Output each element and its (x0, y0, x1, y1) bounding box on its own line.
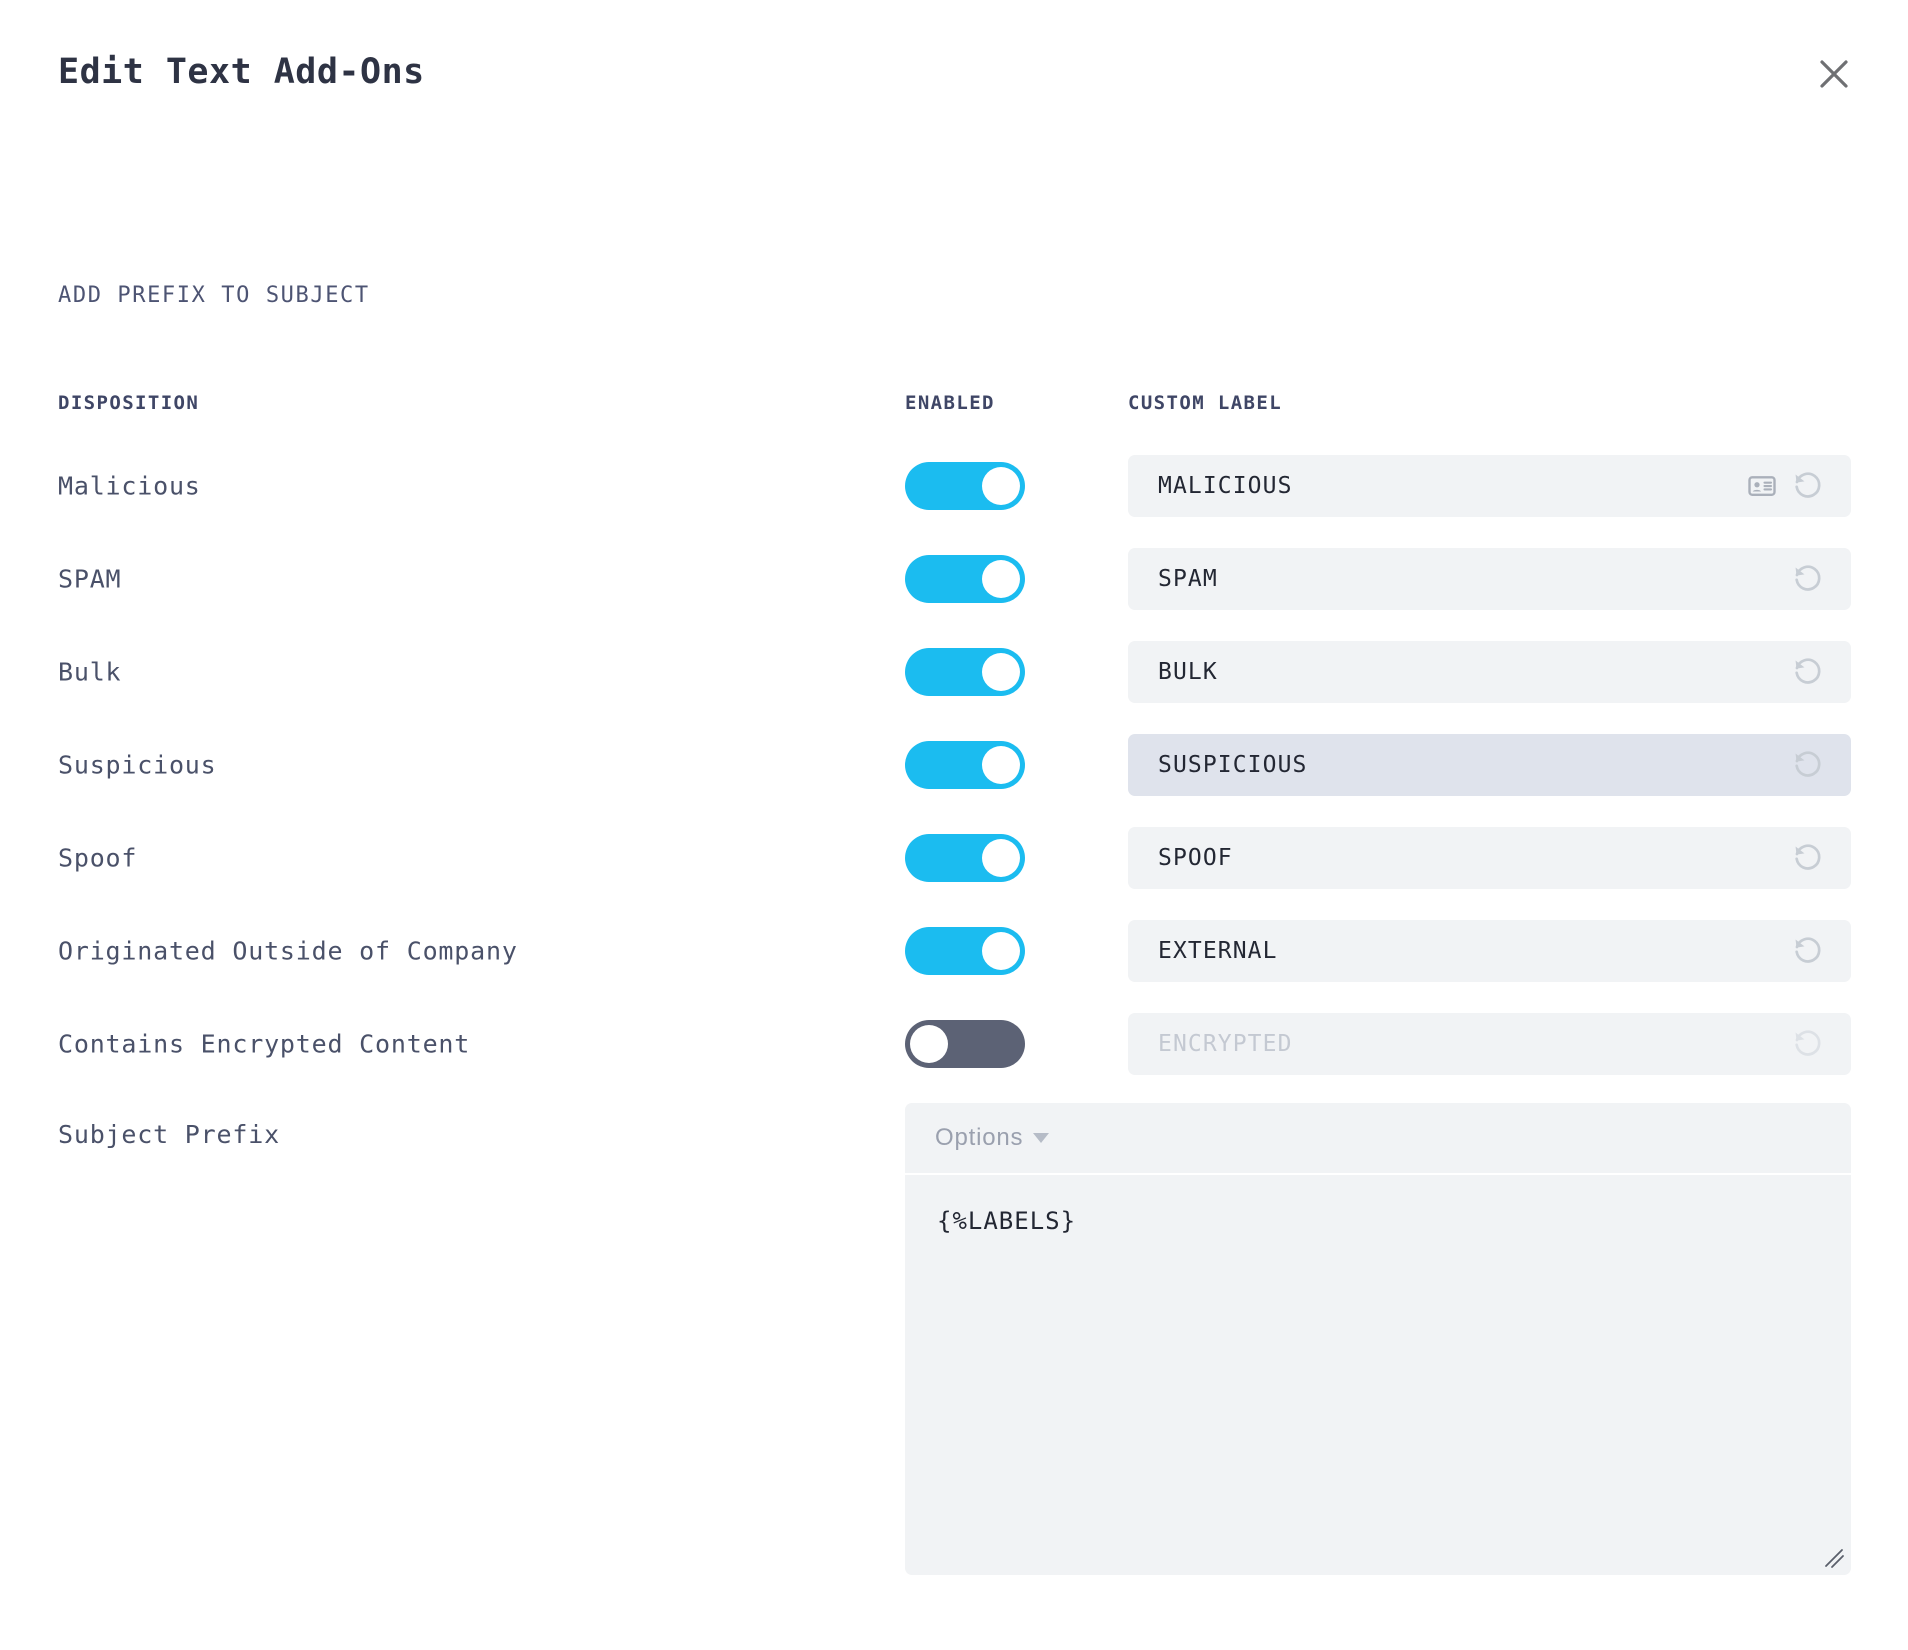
field-actions (1791, 562, 1825, 596)
table-row: Contains Encrypted ContentENCRYPTED (0, 1013, 1908, 1075)
custom-label-value: MALICIOUS (1158, 473, 1747, 499)
table-row: Originated Outside of CompanyEXTERNAL (0, 920, 1908, 982)
undo-reset-icon[interactable] (1791, 841, 1825, 875)
enabled-toggle[interactable] (905, 834, 1025, 882)
options-dropdown[interactable]: Options (935, 1124, 1049, 1152)
custom-label-input[interactable]: MALICIOUS (1128, 455, 1851, 517)
enabled-toggle[interactable] (905, 1020, 1025, 1068)
table-row: SPAMSPAM (0, 548, 1908, 610)
undo-reset-icon[interactable] (1791, 469, 1825, 503)
chevron-down-icon (1033, 1133, 1049, 1143)
custom-label-value: EXTERNAL (1158, 938, 1791, 964)
disposition-label: Suspicious (58, 751, 217, 780)
field-actions (1747, 469, 1825, 503)
undo-reset-icon[interactable] (1791, 748, 1825, 782)
column-header-disposition: DISPOSITION (58, 392, 199, 414)
contact-card-icon[interactable] (1747, 471, 1777, 501)
subject-prefix-label: Subject Prefix (58, 1120, 280, 1149)
toggle-knob (910, 1025, 948, 1063)
close-button[interactable] (1808, 48, 1860, 100)
toggle-knob (982, 653, 1020, 691)
table-row: SpoofSPOOF (0, 827, 1908, 889)
table-row: BulkBULK (0, 641, 1908, 703)
toggle-knob (982, 746, 1020, 784)
custom-label-input[interactable]: BULK (1128, 641, 1851, 703)
toggle-knob (982, 467, 1020, 505)
field-actions (1791, 841, 1825, 875)
enabled-toggle[interactable] (905, 648, 1025, 696)
field-actions (1791, 748, 1825, 782)
enabled-toggle[interactable] (905, 927, 1025, 975)
custom-label-value: SPAM (1158, 566, 1791, 592)
disposition-label: Malicious (58, 472, 201, 501)
column-header-custom-label: CUSTOM LABEL (1128, 392, 1282, 414)
disposition-label: SPAM (58, 565, 121, 594)
enabled-toggle[interactable] (905, 555, 1025, 603)
custom-label-input[interactable]: SPOOF (1128, 827, 1851, 889)
disposition-label: Spoof (58, 844, 137, 873)
enabled-toggle[interactable] (905, 462, 1025, 510)
field-actions (1791, 1027, 1825, 1061)
table-row: SuspiciousSUSPICIOUS (0, 734, 1908, 796)
toggle-knob (982, 560, 1020, 598)
custom-label-value: ENCRYPTED (1158, 1031, 1791, 1057)
custom-label-input[interactable]: EXTERNAL (1128, 920, 1851, 982)
close-icon (1817, 57, 1851, 91)
undo-reset-icon (1791, 1027, 1825, 1061)
undo-reset-icon[interactable] (1791, 655, 1825, 689)
custom-label-value: BULK (1158, 659, 1791, 685)
page-title: Edit Text Add-Ons (58, 52, 425, 92)
section-heading: ADD PREFIX TO SUBJECT (58, 283, 370, 308)
options-dropdown-label: Options (935, 1124, 1023, 1152)
toggle-knob (982, 839, 1020, 877)
subject-prefix-textarea[interactable]: {%LABELS} (905, 1175, 1851, 1575)
field-actions (1791, 934, 1825, 968)
custom-label-input[interactable]: SUSPICIOUS (1128, 734, 1851, 796)
table-row: MaliciousMALICIOUS (0, 455, 1908, 517)
disposition-label: Bulk (58, 658, 121, 687)
custom-label-value: SUSPICIOUS (1158, 752, 1791, 778)
field-actions (1791, 655, 1825, 689)
subject-prefix-value: {%LABELS} (937, 1207, 1076, 1235)
custom-label-input: ENCRYPTED (1128, 1013, 1851, 1075)
prefix-editor-toolbar: Options (905, 1103, 1851, 1173)
enabled-toggle[interactable] (905, 741, 1025, 789)
undo-reset-icon[interactable] (1791, 934, 1825, 968)
dialog-header: Edit Text Add-Ons (0, 0, 1908, 150)
custom-label-input[interactable]: SPAM (1128, 548, 1851, 610)
custom-label-value: SPOOF (1158, 845, 1791, 871)
toggle-knob (982, 932, 1020, 970)
column-header-enabled: ENABLED (905, 392, 995, 414)
resize-grip-icon[interactable] (1823, 1547, 1845, 1569)
disposition-label: Contains Encrypted Content (58, 1030, 470, 1059)
disposition-label: Originated Outside of Company (58, 937, 518, 966)
undo-reset-icon[interactable] (1791, 562, 1825, 596)
